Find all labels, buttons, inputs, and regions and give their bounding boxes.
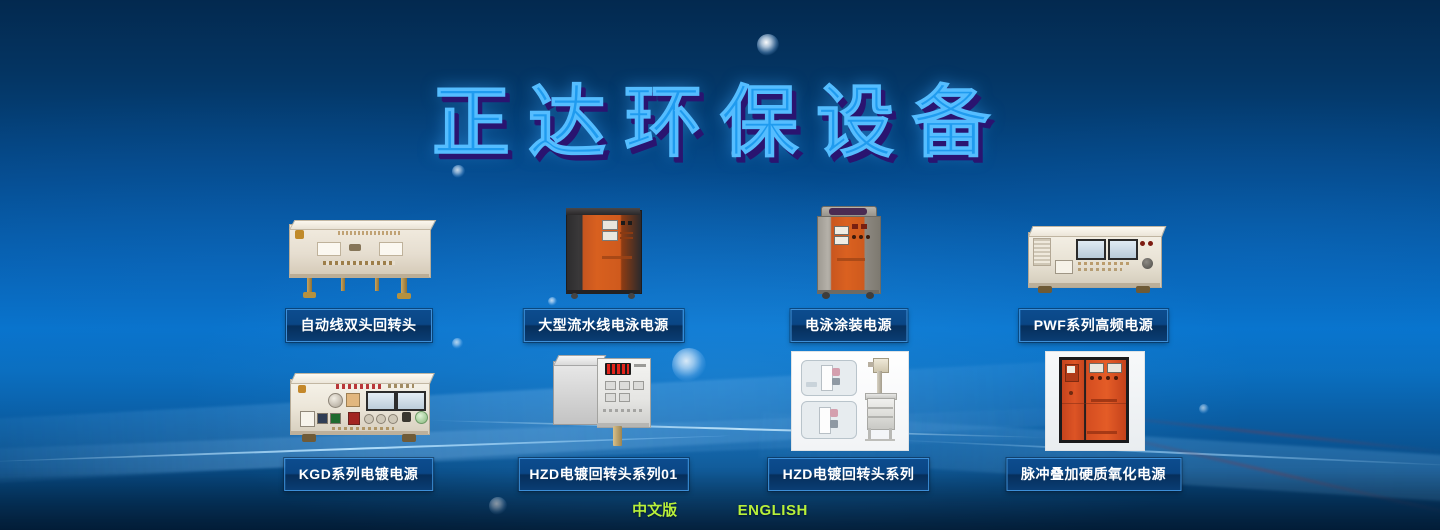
product-cell[interactable]: 自动线双头回转头: [236, 186, 481, 338]
language-links: 中文版 ENGLISH: [0, 499, 1440, 520]
product-cell[interactable]: HZD电镀回转头系列01: [481, 335, 726, 487]
product-label[interactable]: KGD系列电镀电源: [284, 458, 434, 491]
product-cell[interactable]: PWF系列高频电源: [971, 186, 1216, 338]
product-row: 自动线双头回转头 大型流水线电泳电源: [236, 186, 1216, 338]
product-row: KGD系列电镀电源: [236, 335, 1216, 487]
product-image-kgd-series-electroplating-power-supply: [284, 367, 434, 449]
product-image-hzd-electroplating-rotary-head-series: [791, 351, 907, 449]
product-image-pwf-series-high-frequency-power-supply: [1020, 220, 1168, 300]
product-grid: 自动线双头回转头 大型流水线电泳电源: [236, 186, 1216, 487]
product-cell[interactable]: KGD系列电镀电源: [236, 335, 481, 487]
chinese-version-link[interactable]: 中文版: [632, 502, 677, 519]
product-image-pulse-superposition-hard-anodizing-power-supply: [1045, 351, 1143, 449]
page-title: 正达环保设备: [0, 60, 1440, 172]
product-cell[interactable]: HZD电镀回转头系列: [726, 335, 971, 487]
product-image-automatic-line-double-head-rotary-head: [283, 214, 435, 300]
product-image-electrophoretic-coating-power-supply: [807, 204, 891, 300]
product-cell[interactable]: 脉冲叠加硬质氧化电源: [971, 335, 1216, 487]
product-label[interactable]: HZD电镀回转头系列01: [518, 458, 688, 491]
product-image-large-assembly-line-electrophoresis-power-supply: [562, 206, 646, 300]
product-cell[interactable]: 大型流水线电泳电源: [481, 186, 726, 338]
product-label[interactable]: HZD电镀回转头系列: [768, 458, 930, 491]
product-cell[interactable]: 电泳涂装电源: [726, 186, 971, 338]
splash-page: 正达环保设备: [0, 0, 1440, 530]
bokeh-orb: [757, 34, 779, 56]
product-label[interactable]: 脉冲叠加硬质氧化电源: [1006, 458, 1181, 491]
english-version-link[interactable]: ENGLISH: [738, 502, 808, 519]
product-image-hzd-electroplating-rotary-head-series-01: [549, 351, 659, 449]
